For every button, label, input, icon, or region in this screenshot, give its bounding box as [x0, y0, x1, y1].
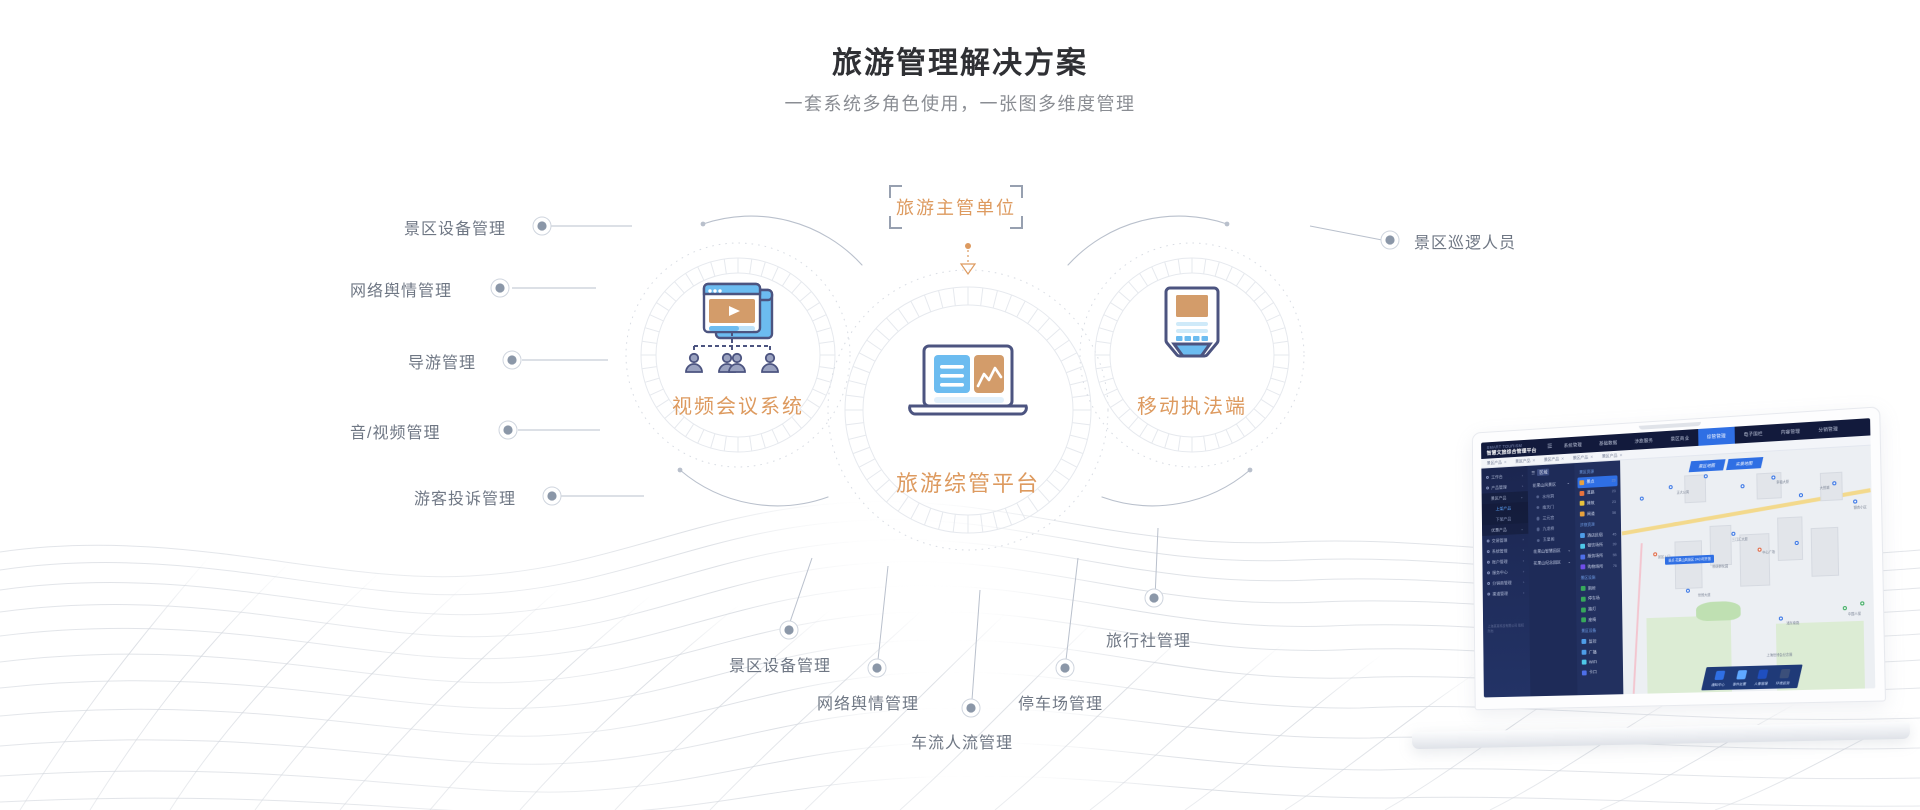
map-dock-icon-1 — [1736, 670, 1747, 679]
chevron-down-icon: ⌄ — [1521, 526, 1524, 531]
layer-type-icon — [1580, 501, 1585, 506]
map-label-4: 三江汇大厦 — [1732, 536, 1748, 542]
app-tab-0[interactable]: 景区产品✕ — [1487, 459, 1507, 466]
map-label-9: 中国人保 — [1848, 611, 1861, 617]
map-label-11: 浦东南路 — [1786, 620, 1799, 626]
sidebar-item-label-8: 账户管理 — [1492, 558, 1508, 564]
close-icon[interactable]: ✕ — [1532, 458, 1535, 463]
bullet-icon — [1487, 571, 1490, 574]
arc-endpoint — [1225, 222, 1230, 227]
authority-connector — [961, 243, 975, 274]
app-tab-label-1: 景区产品 — [1515, 458, 1530, 465]
layer-item-count-0-1: 23 — [1612, 489, 1616, 493]
bullet-icon — [1487, 550, 1490, 553]
app-tab-label-0: 景区产品 — [1487, 459, 1502, 466]
map-dock-label-3: 环境监测 — [1776, 679, 1791, 684]
bullet-icon — [1487, 582, 1490, 585]
bullet-icon — [1536, 495, 1539, 498]
map-dock-label-2: 人像管理 — [1754, 680, 1769, 685]
label-bottom-2[interactable]: 网络舆情管理 — [817, 690, 919, 714]
app-tab-label-3: 景区产品 — [1573, 454, 1589, 461]
sidebar-item-label-0: 工作台 — [1491, 474, 1503, 480]
layer-item-label-1-2: 服务场所 — [1587, 552, 1610, 559]
close-icon[interactable]: ✕ — [1504, 459, 1507, 464]
layer-type-icon — [1581, 586, 1586, 591]
map-label-5: 景区入口 — [1658, 554, 1670, 560]
map-dock-label-1: 事件处置 — [1732, 680, 1747, 685]
solution-overview-page: 旅游管理解决方案 一套系统多角色使用，一张图多维度管理 — [0, 0, 1920, 810]
arc-top-right — [1068, 216, 1227, 265]
app-sidebar: 工作台›产品管理›景区产品⌄上架产品下架产品优惠产品⌄交易管理›系统管理›账户管… — [1481, 466, 1530, 698]
label-left-3[interactable]: 导游管理 — [408, 349, 476, 373]
bottom-connectors — [790, 528, 1158, 700]
layer-type-icon — [1581, 639, 1586, 644]
arc-bottom-right — [1102, 470, 1250, 506]
map-dock-item-1[interactable]: 事件处置 — [1732, 670, 1749, 686]
map-dock-icon-2 — [1758, 669, 1769, 678]
chevron-right-icon: › — [1523, 590, 1524, 595]
map-label-0: 正大公寓 — [1677, 489, 1690, 495]
sidebar-item-label-5: 优惠产品 — [1491, 527, 1507, 534]
area-item-label-0-0: 水帘洞 — [1542, 493, 1554, 499]
layer-type-icon — [1580, 512, 1585, 517]
chevron-down-icon: ⌄ — [1520, 494, 1523, 499]
layer-item-label-2-0: 厕所 — [1588, 584, 1615, 591]
app-tab-1[interactable]: 景区产品✕ — [1515, 457, 1535, 464]
area-group-label-2: 花果山纪念园区 — [1533, 559, 1561, 566]
bullet-icon — [1487, 561, 1490, 564]
bullet-icon — [1487, 539, 1490, 542]
map-button-1[interactable]: 实景地图 — [1726, 457, 1763, 470]
layer-item-label-1-3: 购物场所 — [1588, 563, 1611, 570]
layer-item-label-1-0: 酒店民宿 — [1587, 531, 1610, 538]
map-label-3: 银杏小区 — [1854, 504, 1867, 510]
app-tab-label-2: 景区产品 — [1544, 456, 1559, 463]
area-group-label-1: 花果山智慧园区 — [1533, 548, 1561, 555]
map-dock-icon-0 — [1715, 670, 1726, 679]
map-dock-item-2[interactable]: 人像管理 — [1754, 669, 1771, 685]
map-button-0[interactable]: 景区地图 — [1688, 459, 1725, 472]
map-label-10: 世博大道 — [1698, 592, 1711, 597]
chevron-right-icon: › — [1523, 537, 1524, 542]
ring-caption-platform: 旅游综管平台 — [858, 466, 1078, 498]
chevron-right-icon: › — [1522, 484, 1523, 489]
layer-item-label-1-1: 餐饮场所 — [1587, 542, 1610, 549]
ring-caption-mobile: 移动执法端 — [1102, 390, 1282, 419]
arc-endpoint — [1248, 468, 1253, 473]
arc-bottom-left — [680, 470, 828, 506]
sidebar-item-label-3: 上架产品 — [1496, 505, 1512, 512]
area-panel-header: ☰ 区域 — [1531, 467, 1570, 476]
map-label-6: 科研孵化园 — [1712, 563, 1728, 569]
label-bottom-3[interactable]: 车流人流管理 — [911, 729, 1013, 753]
tourism-platform-app: SMART TOURISM 智慧文旅综合管理平台 ☰ 系统管理基础数据涉旅服务景… — [1481, 418, 1875, 697]
bullet-icon — [1486, 476, 1489, 479]
laptop-screen: SMART TOURISM 智慧文旅综合管理平台 ☰ 系统管理基础数据涉旅服务景… — [1481, 418, 1875, 697]
label-left-4[interactable]: 音/视频管理 — [350, 419, 440, 443]
list-icon: ☰ — [1531, 470, 1535, 476]
sidebar-item-label-1: 产品管理 — [1491, 484, 1507, 491]
chevron-down-icon[interactable]: ⌄ — [1567, 548, 1570, 553]
corner-bracket-bottom-right — [1010, 216, 1023, 229]
layer-item-3-3[interactable]: 卡口 — [1580, 666, 1620, 678]
label-right-1[interactable]: 景区巡逻人员 — [1414, 229, 1516, 253]
ring-video-conference — [626, 216, 862, 506]
laptop-base — [1412, 722, 1910, 749]
map-view-switch[interactable]: 景区地图 实景地图 — [1688, 457, 1762, 472]
layer-type-icon — [1579, 480, 1584, 485]
arc-top-left — [703, 216, 862, 265]
layer-item-label-3-1: 广播 — [1589, 648, 1616, 655]
label-left-1[interactable]: 景区设备管理 — [404, 215, 506, 239]
ring-caption-video: 视频会议系统 — [638, 390, 838, 419]
sidebar-item-label-7: 系统管理 — [1492, 548, 1508, 555]
bullet-icon — [1537, 517, 1540, 520]
map-dock-icon-3 — [1779, 668, 1790, 677]
app-tab-4[interactable]: 景区产品✕ — [1602, 452, 1623, 459]
area-item-label-0-3: 九龙桥 — [1543, 526, 1555, 532]
label-bottom-1[interactable]: 景区设备管理 — [729, 652, 831, 676]
app-logo: SMART TOURISM 智慧文旅综合管理平台 — [1481, 441, 1544, 456]
arc-endpoint — [678, 468, 683, 473]
label-left-2[interactable]: 网络舆情管理 — [350, 277, 452, 301]
chevron-right-icon: › — [1522, 473, 1523, 478]
layer-type-icon — [1582, 650, 1587, 655]
area-group-label-0: 花果山风景区 — [1532, 482, 1556, 489]
laptop-lid: SMART TOURISM 智慧文旅综合管理平台 ☰ 系统管理基础数据涉旅服务景… — [1472, 406, 1886, 710]
layer-item-count-0-3: 56 — [1612, 511, 1616, 515]
authority-label: 旅游主管单位 — [896, 194, 1016, 220]
layer-item-count-1-3: 76 — [1613, 564, 1617, 568]
laptop-mockup: SMART TOURISM 智慧文旅综合管理平台 ☰ 系统管理基础数据涉旅服务景… — [1412, 418, 1910, 758]
area-item-label-0-2: 三元宫 — [1543, 515, 1555, 521]
close-icon[interactable]: ✕ — [1590, 454, 1593, 459]
bullet-icon — [1537, 539, 1540, 542]
laptop-dashboard-icon — [910, 346, 1027, 414]
area-item-label-0-1: 南天门 — [1542, 504, 1554, 510]
map-label-2: 大悦城 — [1820, 484, 1830, 490]
sidebar-item-label-10: 分销商管理 — [1492, 580, 1511, 587]
map-dock-item-0[interactable]: 通知中心 — [1711, 670, 1728, 686]
map-label-7: 中心广场 — [1762, 549, 1775, 555]
layer-item-count-1-1: 39 — [1613, 543, 1617, 547]
layer-item-count-1-0: 45 — [1612, 532, 1616, 536]
area-panel: ☰ 区域 花果山风景区⌃水帘洞南天门三元宫九龙桥玉皇阁花果山智慧园区⌄花果山纪念… — [1528, 463, 1578, 696]
layer-item-label-2-3: 座椅 — [1588, 616, 1615, 623]
authority-chip[interactable]: 旅游主管单位 — [889, 185, 1023, 229]
label-bottom-5[interactable]: 旅行社管理 — [1106, 627, 1191, 651]
layer-item-count-0-0: 23 — [1612, 479, 1616, 483]
map-dock-label-0: 通知中心 — [1711, 681, 1726, 686]
video-conference-icon — [686, 284, 778, 372]
bullet-icon — [1486, 486, 1489, 489]
layer-type-icon — [1581, 618, 1586, 623]
map-canvas[interactable]: 景区地图 实景地图 — [1620, 446, 1875, 695]
layer-type-icon — [1580, 554, 1585, 559]
bullet-icon — [1487, 593, 1490, 596]
layer-item-count-0-2: 23 — [1612, 500, 1616, 504]
app-tab-2[interactable]: 景区产品✕ — [1544, 455, 1564, 462]
right-nodes — [1381, 231, 1399, 249]
layer-item-label-3-2: WIFI — [1589, 659, 1616, 665]
left-connectors — [512, 226, 644, 496]
map-label-8: 上海世博会纪念展 — [1767, 652, 1793, 658]
sidebar-item-label-9: 服务中心 — [1492, 569, 1508, 575]
layer-type-icon — [1581, 597, 1586, 602]
layer-panel: 景区资源景点23道路23建筑23闸道56涉旅资源酒店民宿45餐饮场所39服务场所… — [1574, 460, 1623, 695]
ring-mobile-enforcement — [1068, 216, 1304, 506]
sidebar-footer: 上海某某科技有限公司 版权所有 — [1483, 623, 1529, 634]
layer-item-count-1-2: 55 — [1613, 553, 1617, 557]
corner-bracket-top-right — [1010, 185, 1023, 198]
layer-type-icon — [1580, 544, 1585, 549]
left-nodes — [491, 217, 561, 505]
app-tab-label-4: 景区产品 — [1602, 452, 1618, 459]
map-dock-item-3[interactable]: 环境监测 — [1776, 668, 1793, 684]
map-tooltip: 景点 花果山风景区 24小时开放 — [1665, 554, 1714, 564]
corner-bracket-bottom-left — [889, 216, 902, 229]
chevron-down-icon[interactable]: ⌄ — [1568, 559, 1571, 564]
app-tab-3[interactable]: 景区产品✕ — [1573, 454, 1594, 461]
chevron-right-icon: › — [1523, 548, 1524, 553]
layer-item-label-2-2: 路灯 — [1588, 606, 1615, 613]
right-connectors — [1310, 226, 1382, 240]
layer-type-icon — [1581, 607, 1586, 612]
layer-type-icon — [1582, 670, 1587, 675]
chevron-right-icon: › — [1523, 558, 1524, 563]
layer-item-label-0-3: 闸道 — [1587, 510, 1610, 517]
close-icon[interactable]: ✕ — [1561, 456, 1564, 461]
layer-type-icon — [1581, 565, 1586, 570]
close-icon[interactable]: ✕ — [1619, 452, 1622, 457]
area-item-label-0-4: 玉皇阁 — [1543, 537, 1555, 543]
map-road-pink — [1633, 544, 1643, 694]
map-dock[interactable]: 通知中心事件处置人像管理环境监测 — [1701, 664, 1803, 689]
layer-item-label-0-0: 景点 — [1586, 478, 1609, 485]
layer-item-label-0-1: 道路 — [1587, 489, 1610, 496]
layer-type-icon — [1582, 660, 1587, 665]
label-bottom-4[interactable]: 停车场管理 — [1018, 690, 1103, 714]
map-label-1: 幸福大厦 — [1776, 479, 1789, 485]
chevron-right-icon: › — [1523, 580, 1524, 585]
sidebar-item-label-6: 交易管理 — [1492, 537, 1508, 544]
menu-burger-icon[interactable]: ☰ — [1544, 443, 1555, 450]
layer-item-label-0-2: 建筑 — [1587, 499, 1610, 506]
sidebar-item-label-11: 渠道管理 — [1492, 590, 1508, 596]
sidebar-item-label-4: 下架产品 — [1496, 516, 1512, 523]
corner-bracket-top-left — [889, 185, 902, 198]
layer-item-label-2-1: 停车场 — [1588, 595, 1615, 602]
app-body: 工作台›产品管理›景区产品⌄上架产品下架产品优惠产品⌄交易管理›系统管理›账户管… — [1481, 446, 1875, 698]
layer-item-label-3-3: 卡口 — [1589, 669, 1616, 676]
sidebar-item-11[interactable]: 渠道管理› — [1483, 587, 1529, 599]
area-panel-title: 区域 — [1537, 469, 1549, 476]
sidebar-item-label-2: 景区产品 — [1491, 495, 1507, 502]
label-left-5[interactable]: 游客投诉管理 — [414, 485, 516, 509]
layer-item-label-3-0: 监控 — [1589, 638, 1616, 645]
arc-endpoint — [701, 222, 706, 227]
chevron-right-icon: › — [1523, 569, 1524, 574]
bullet-icon — [1537, 528, 1540, 531]
chevron-up-icon[interactable]: ⌃ — [1567, 481, 1570, 486]
handheld-terminal-icon — [1166, 288, 1218, 356]
area-group-2[interactable]: 花果山纪念园区⌄ — [1532, 556, 1572, 569]
bullet-icon — [1536, 506, 1539, 509]
layer-type-icon — [1580, 491, 1585, 496]
layer-type-icon — [1580, 533, 1585, 538]
